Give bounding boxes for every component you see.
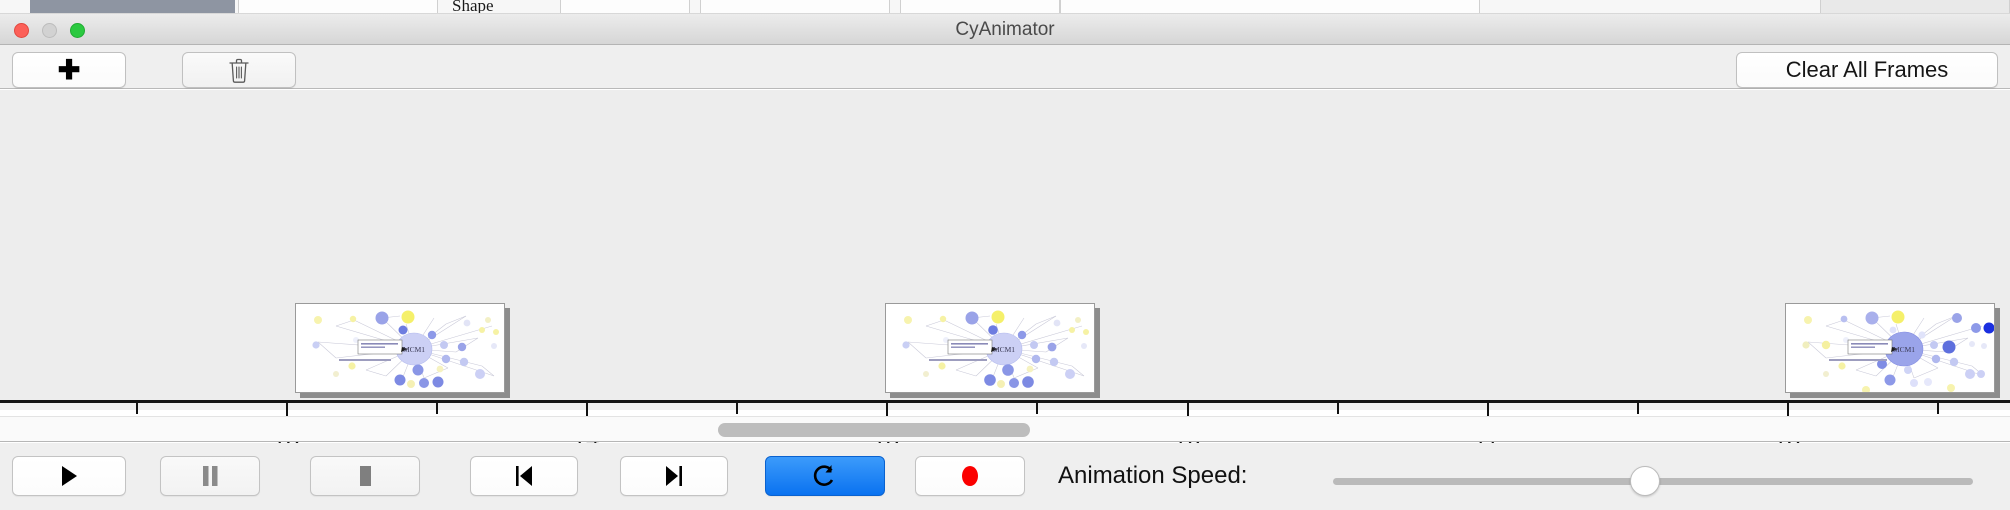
bg-chip-4 [900, 0, 1060, 14]
svg-text:MCM1: MCM1 [403, 345, 425, 354]
axis-tick-minor [136, 403, 138, 414]
pause-button[interactable] [160, 456, 260, 496]
axis-tick-minor [1337, 403, 1339, 414]
play-button[interactable] [12, 456, 126, 496]
timeline-scrollbar[interactable] [0, 416, 2010, 442]
bg-chip-2 [560, 0, 690, 14]
stop-icon [356, 464, 374, 488]
skip-forward-button[interactable] [620, 456, 728, 496]
axis-tick-minor [736, 403, 738, 414]
delete-frame-button[interactable] [182, 52, 296, 88]
clear-all-frames-button[interactable]: Clear All Frames [1736, 52, 1998, 88]
trash-icon [228, 58, 250, 83]
animation-speed-label: Animation Speed: [1058, 456, 1247, 496]
keyframe-thumbnail-2[interactable]: MCM1 [885, 303, 1101, 399]
playback-control-bar: Animation Speed: [0, 443, 2010, 510]
title-bar: CyAnimator [0, 14, 2010, 45]
bg-chip-dark [30, 0, 235, 14]
timeline-axis-line [0, 400, 2010, 403]
axis-tick-minor [436, 403, 438, 414]
thumbnail-image: MCM1 [885, 303, 1095, 393]
axis-tick-minor [1937, 403, 1939, 414]
loop-button[interactable] [765, 456, 885, 496]
axis-tick-minor [1036, 403, 1038, 414]
bg-chip-5 [1060, 0, 1480, 14]
bg-chip-3 [700, 0, 890, 14]
timeline-scrollbar-thumb[interactable] [718, 423, 1030, 437]
skip-forward-icon [663, 464, 685, 488]
record-icon [959, 463, 981, 489]
stop-button[interactable] [310, 456, 420, 496]
svg-text:MCM1: MCM1 [1893, 345, 1915, 354]
svg-text:MCM1: MCM1 [993, 345, 1015, 354]
play-icon [58, 464, 80, 488]
skip-back-button[interactable] [470, 456, 578, 496]
bg-chip-1 [238, 0, 438, 14]
bg-chip-6 [1820, 0, 2010, 14]
keyframe-thumbnail-3[interactable]: MCM1 [1785, 303, 2001, 399]
axis-tick-minor [1637, 403, 1639, 414]
bg-label-shape: Shape [452, 0, 494, 14]
animation-speed-slider-thumb[interactable] [1630, 466, 1660, 496]
plus-icon: ✚ [58, 57, 81, 84]
loop-icon [813, 463, 837, 489]
skip-back-icon [513, 464, 535, 488]
keyframe-thumbnail-1[interactable]: MCM1 [295, 303, 511, 399]
add-frame-button[interactable]: ✚ [12, 52, 126, 88]
thumbnail-image: MCM1 [295, 303, 505, 393]
host-app-background-strip: Shape [0, 0, 2010, 14]
clear-all-frames-label: Clear All Frames [1786, 57, 1949, 83]
timeline-panel[interactable]: MCM1 [0, 90, 2010, 410]
pause-icon [200, 464, 220, 488]
frames-toolbar: ✚ Clear All Frames [0, 45, 2010, 89]
cyanimator-window: Shape CyAnimator ✚ Clear All Frames [0, 0, 2010, 510]
record-button[interactable] [915, 456, 1025, 496]
thumbnail-image: MCM1 [1785, 303, 1995, 393]
window-title: CyAnimator [0, 14, 2010, 45]
